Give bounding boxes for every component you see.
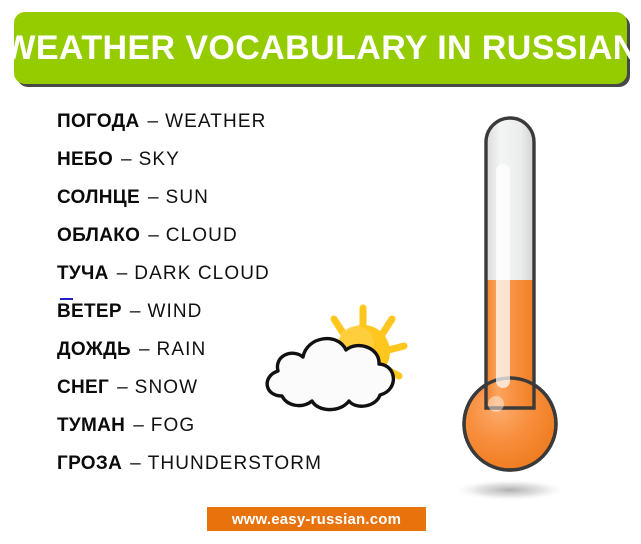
header-banner: WEATHER VOCABULARY IN RUSSIAN <box>14 12 627 84</box>
vocab-english-word: WEATHER <box>165 111 266 133</box>
vocab-russian-word: НЕБО <box>57 149 113 171</box>
vocab-russian-word: ОБЛАКО <box>57 225 140 247</box>
vocab-russian-word: СОЛНЦЕ <box>57 187 140 209</box>
vocab-russian-word: ТУМАН <box>57 415 125 437</box>
vocab-russian-word: ТУЧА <box>57 263 109 285</box>
poster-canvas: WEATHER VOCABULARY IN RUSSIAN ПОГОДА – W… <box>0 0 641 544</box>
vocab-english-word: SKY <box>139 149 180 171</box>
vocab-english-word: SNOW <box>135 377 199 399</box>
vocab-russian-word: ВЕТЕР <box>57 301 122 323</box>
vocab-separator: – <box>122 301 148 323</box>
vocab-english-word: CLOUD <box>166 225 238 247</box>
vocab-russian-word: СНЕГ <box>57 377 109 399</box>
website-badge[interactable]: www.easy-russian.com <box>207 507 426 531</box>
sun-behind-cloud-icon <box>252 292 414 417</box>
thermometer-highlight <box>496 164 510 388</box>
vocab-separator: – <box>109 377 135 399</box>
vocab-russian-word: ГРОЗА <box>57 453 122 475</box>
vocab-english-word: DARK CLOUD <box>134 263 270 285</box>
vocab-russian-word: ПОГОДА <box>57 111 140 133</box>
vocab-russian-word: ДОЖДЬ <box>57 339 131 361</box>
vocab-separator: – <box>140 111 166 133</box>
list-item: ГРОЗА – THUNDERSTORM <box>57 445 387 483</box>
vocab-separator: – <box>122 453 148 475</box>
thermometer-bulb-highlight <box>488 396 504 412</box>
vocab-separator: – <box>125 415 151 437</box>
list-item: ОБЛАКО – CLOUD <box>57 217 387 255</box>
vocab-separator: – <box>140 187 166 209</box>
list-item: ТУЧА – DARK CLOUD <box>57 255 387 293</box>
vocab-english-word: SUN <box>166 187 209 209</box>
list-item: СОЛНЦЕ – SUN <box>57 179 387 217</box>
list-item: НЕБО – SKY <box>57 141 387 179</box>
vocab-separator: – <box>131 339 157 361</box>
vocab-english-word: RAIN <box>157 339 207 361</box>
thermometer-shadow <box>452 479 568 501</box>
vocab-english-word: FOG <box>151 415 195 437</box>
list-item: ПОГОДА – WEATHER <box>57 103 387 141</box>
vocab-separator: – <box>113 149 139 171</box>
vocab-english-word: THUNDERSTORM <box>148 453 322 475</box>
vocab-english-word: WIND <box>147 301 202 323</box>
thermometer-icon <box>448 108 593 508</box>
vocab-separator: – <box>109 263 135 285</box>
page-title: WEATHER VOCABULARY IN RUSSIAN <box>3 31 637 65</box>
website-url: www.easy-russian.com <box>232 512 401 527</box>
vocab-separator: – <box>140 225 166 247</box>
